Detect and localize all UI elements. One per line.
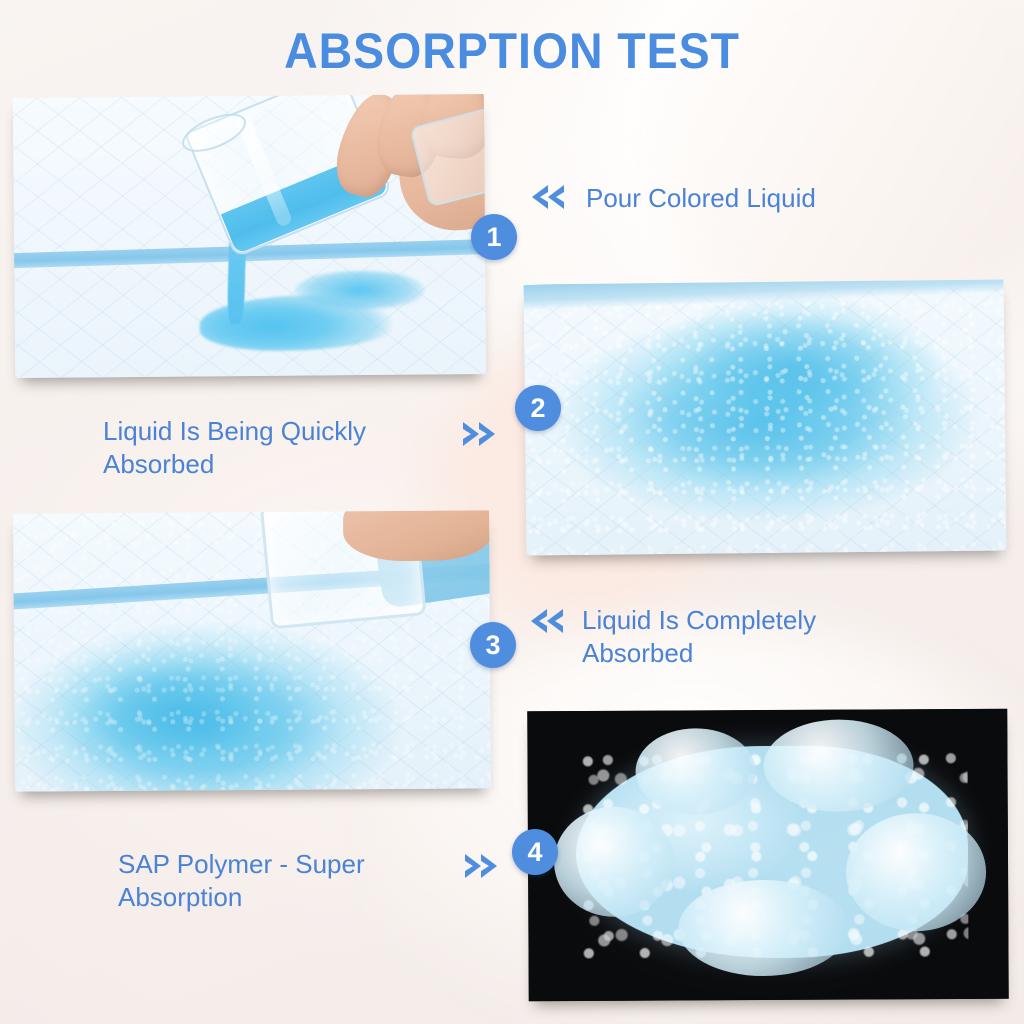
double-chevron-left-icon <box>528 184 570 215</box>
step-3-photo-inner <box>13 510 491 791</box>
step-4-caption: SAP Polymer - Super Absorption <box>118 848 365 914</box>
gel-lump <box>846 813 987 932</box>
step-badge-3: 3 <box>470 622 516 668</box>
step-3-caption: Liquid Is Completely Absorbed <box>582 604 816 670</box>
gel-lump <box>763 719 913 812</box>
step-badge-2: 2 <box>515 385 561 431</box>
double-chevron-right-icon <box>457 421 499 452</box>
page-title: ABSORPTION TEST <box>36 22 988 80</box>
double-chevron-right-icon <box>459 853 501 884</box>
gel-lump <box>554 806 675 917</box>
infographic-canvas: ABSORPTION TEST <box>0 0 1024 1024</box>
step-2-photo-inner <box>524 279 1007 555</box>
gel-lump <box>678 880 849 977</box>
step-1-photo-inner <box>13 94 486 378</box>
fiber-speckle-texture <box>524 279 1007 555</box>
step-badge-1: 1 <box>471 214 517 260</box>
step-1-photo <box>13 94 486 378</box>
step-1-caption: Pour Colored Liquid <box>586 182 816 215</box>
step-badge-4: 4 <box>512 829 558 875</box>
gel-lump <box>635 728 755 815</box>
step-4-photo-inner <box>527 709 1009 1002</box>
step-4-photo <box>527 709 1009 1002</box>
step-2-photo <box>524 279 1007 555</box>
double-chevron-left-icon <box>527 608 569 639</box>
step-2-caption: Liquid Is Being Quickly Absorbed <box>103 415 366 481</box>
hand-holding-beaker <box>343 510 491 561</box>
step-3-photo <box>13 510 491 791</box>
